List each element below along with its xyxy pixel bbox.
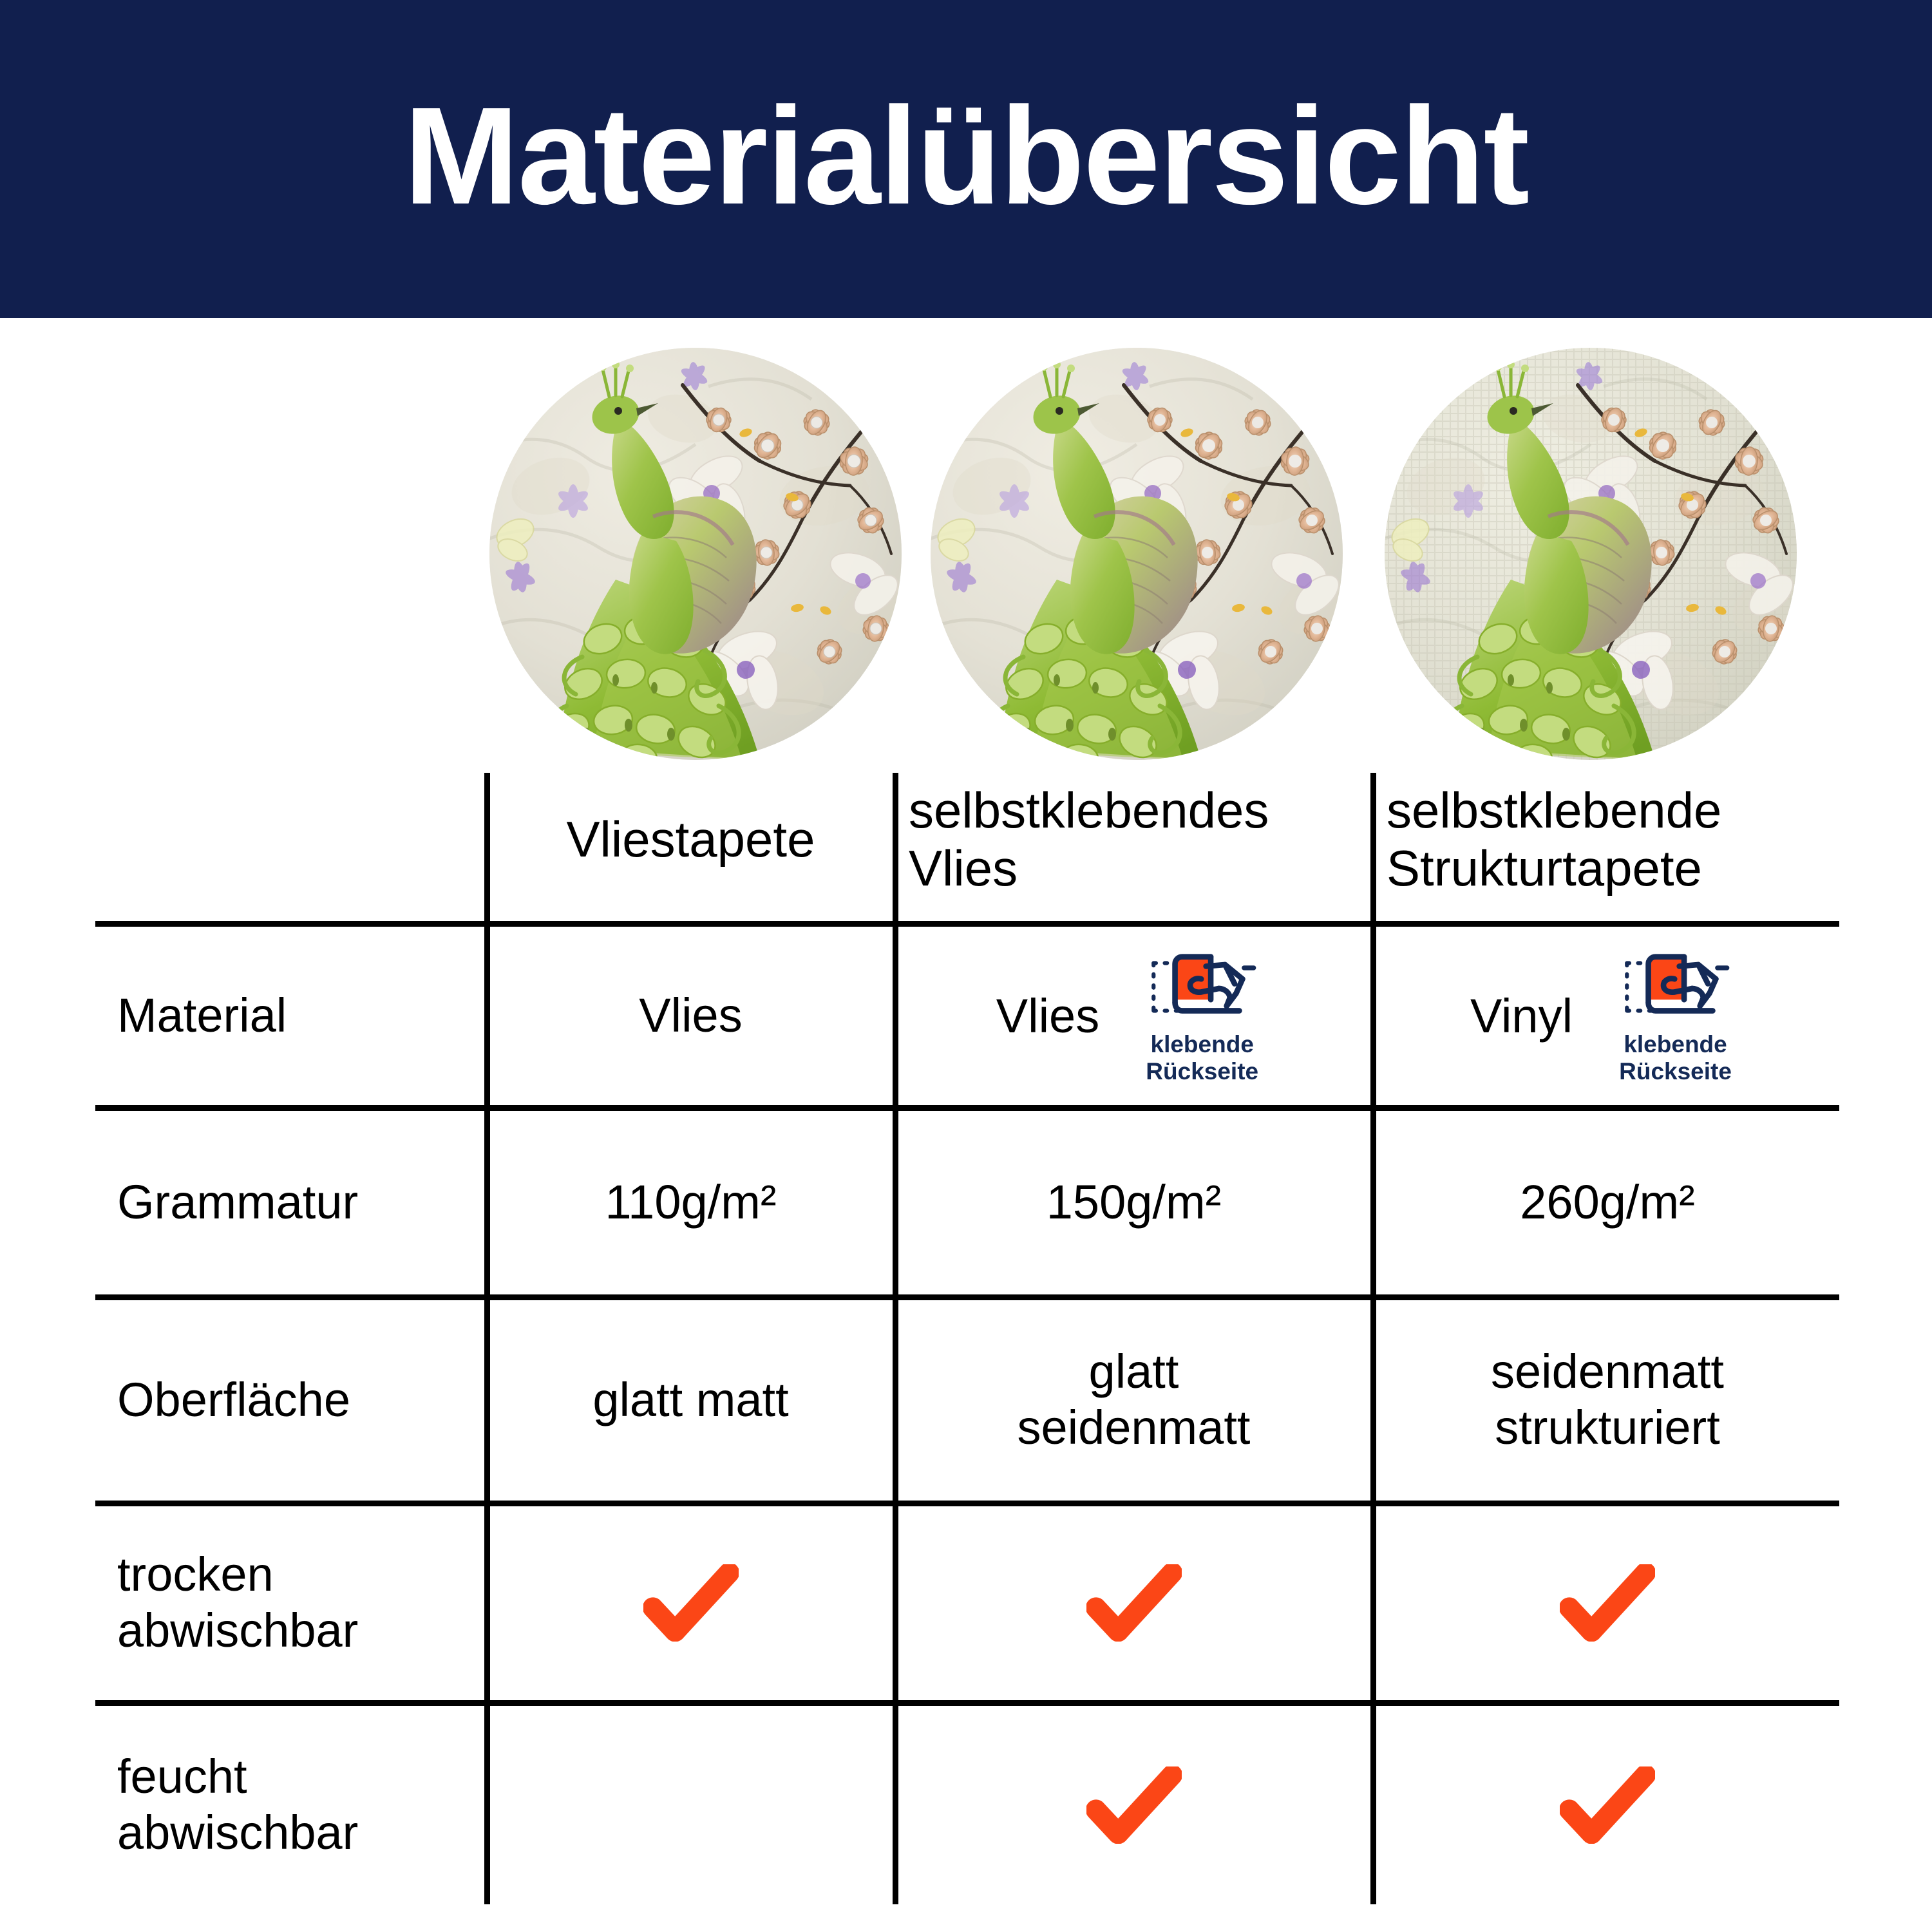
column-divider-2	[893, 773, 898, 1904]
check-icon	[1086, 1564, 1182, 1642]
cell-grammatur-selbstklebendes-vlies: 150g/m²	[898, 1112, 1369, 1293]
cell-value: 110g/m²	[605, 1175, 777, 1231]
row-label-text: Oberfläche	[117, 1372, 350, 1428]
row-label-grammatur: Grammatur	[97, 1112, 483, 1293]
cell-value: seidenmatt strukturiert	[1491, 1344, 1724, 1455]
cell-material-selbstklebende-strukturtapete: Vinyl	[1376, 927, 1839, 1104]
cell-feucht-selbstklebende-strukturtapete	[1376, 1707, 1839, 1903]
adhesive-back-icon	[1142, 947, 1262, 1027]
cell-feucht-selbstklebendes-vlies	[898, 1707, 1369, 1903]
column-header-label: Vliestapete	[567, 811, 815, 869]
cell-grammatur-selbstklebende-strukturtapete: 260g/m²	[1376, 1112, 1839, 1293]
column-header-label: selbstklebendes Vlies	[909, 782, 1269, 897]
adhesive-back-label: klebende Rückseite	[1146, 1031, 1258, 1084]
cell-value: glatt seidenmatt	[1018, 1344, 1251, 1455]
row-divider-2	[95, 1105, 1839, 1111]
column-header-vliestapete: Vliestapete	[490, 760, 891, 920]
cell-oberflaeche-selbstklebendes-vlies: glatt seidenmatt	[898, 1301, 1369, 1499]
row-divider-5	[95, 1700, 1839, 1706]
row-label-text: Material	[117, 988, 287, 1044]
cell-trocken-vliestapete	[490, 1507, 891, 1699]
row-divider-3	[95, 1294, 1839, 1300]
cell-trocken-selbstklebende-strukturtapete	[1376, 1507, 1839, 1699]
product-thumbnail-selbstklebende-strukturtapete[interactable]	[1385, 348, 1797, 760]
column-header-selbstklebendes-vlies: selbstklebendes Vlies	[898, 760, 1369, 920]
cell-value: 260g/m²	[1520, 1175, 1694, 1231]
product-thumbnail-row	[486, 348, 1839, 760]
column-header-selbstklebende-strukturtapete: selbstklebende Strukturtapete	[1376, 760, 1839, 920]
column-header-label: selbstklebende Strukturtapete	[1387, 782, 1721, 897]
cell-feucht-vliestapete	[490, 1707, 891, 1903]
cell-value: Vlies	[639, 988, 742, 1044]
header-banner: Materialübersicht	[0, 0, 1932, 318]
cell-grammatur-vliestapete: 110g/m²	[490, 1112, 891, 1293]
product-thumbnail-vliestapete[interactable]	[489, 348, 902, 760]
row-label-text: feucht abwischbar	[117, 1749, 358, 1861]
row-divider-4	[95, 1501, 1839, 1506]
adhesive-back-badge: klebende Rückseite	[1133, 947, 1271, 1084]
cell-oberflaeche-vliestapete: glatt matt	[490, 1301, 891, 1499]
page-title: Materialübersicht	[404, 86, 1528, 225]
check-icon	[1560, 1564, 1655, 1642]
cell-oberflaeche-selbstklebende-strukturtapete: seidenmatt strukturiert	[1376, 1301, 1839, 1499]
cell-trocken-selbstklebendes-vlies	[898, 1507, 1369, 1699]
adhesive-back-icon	[1616, 947, 1735, 1027]
cell-material-vliestapete: Vlies	[490, 927, 891, 1104]
row-label-text: trocken abwischbar	[117, 1547, 358, 1658]
cell-material-selbstklebendes-vlies: Vlies	[898, 927, 1369, 1104]
adhesive-back-badge: klebende Rückseite	[1606, 947, 1745, 1084]
row-divider-1	[95, 921, 1839, 927]
row-label-trocken-abwischbar: trocken abwischbar	[97, 1507, 483, 1699]
row-label-feucht-abwischbar: feucht abwischbar	[97, 1707, 483, 1903]
check-icon	[1086, 1766, 1182, 1844]
product-thumbnail-selbstklebendes-vlies[interactable]	[931, 348, 1343, 760]
cell-value: Vlies	[996, 989, 1099, 1043]
row-label-oberflaeche: Oberfläche	[97, 1301, 483, 1499]
row-label-text: Grammatur	[117, 1175, 358, 1231]
check-icon	[643, 1564, 739, 1642]
column-divider-3	[1370, 773, 1376, 1904]
check-icon	[1560, 1766, 1655, 1844]
adhesive-back-label: klebende Rückseite	[1619, 1031, 1732, 1084]
column-divider-1	[484, 773, 490, 1904]
cell-value: 150g/m²	[1046, 1175, 1221, 1231]
material-overview-page: Materialübersicht	[0, 0, 1932, 1932]
cell-value: Vinyl	[1470, 989, 1573, 1043]
row-label-material: Material	[97, 927, 483, 1104]
cell-value: glatt matt	[592, 1372, 788, 1428]
